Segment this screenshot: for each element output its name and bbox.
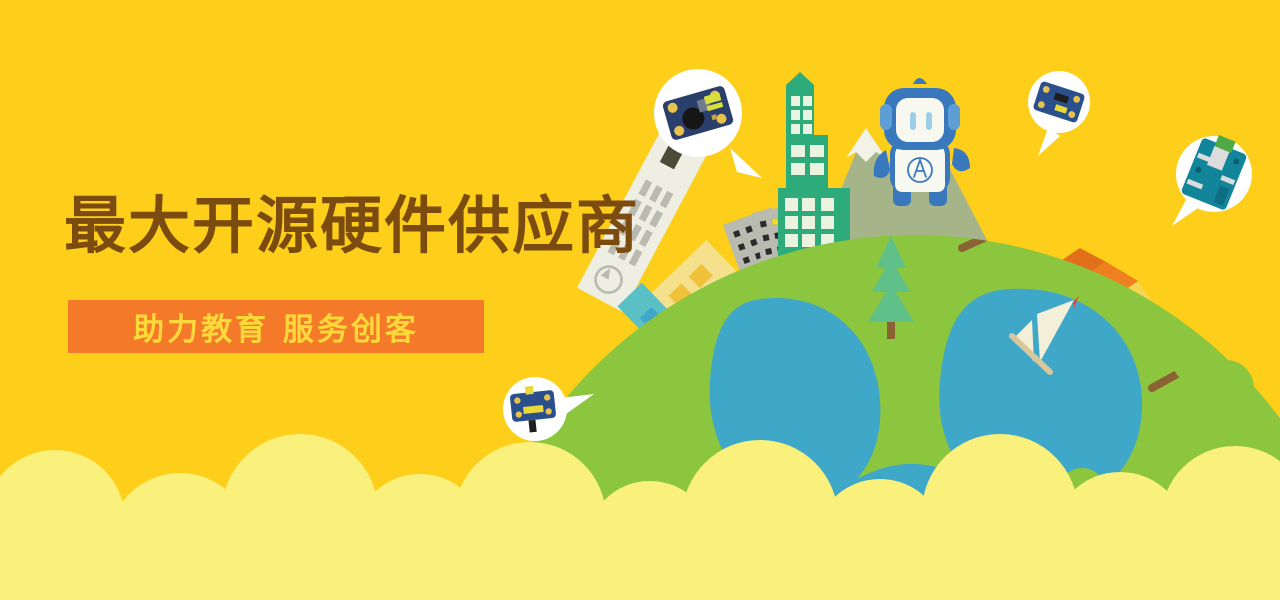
banner-illustration bbox=[0, 0, 1280, 600]
robot-chest-panel bbox=[895, 146, 945, 192]
hero-banner: 最大开源硬件供应商 助力教育 服务创客 bbox=[0, 0, 1280, 600]
robot-eye-right bbox=[926, 112, 932, 130]
robot-face-screen bbox=[896, 98, 944, 142]
robot-eye-left bbox=[910, 112, 916, 130]
